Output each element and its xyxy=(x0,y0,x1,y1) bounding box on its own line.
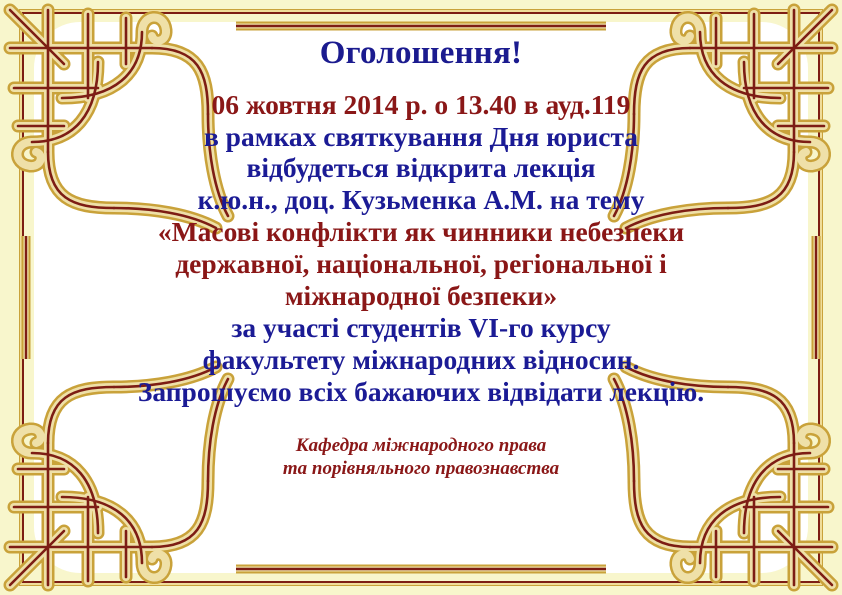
page-title: Оголошення! xyxy=(52,36,790,71)
lecture-title-line-2: державної, національної, регіональної і xyxy=(52,248,790,280)
signature-line-2: та порівняльного правознавства xyxy=(52,457,790,481)
poster-content: Оголошення! 06 жовтня 2014 р. о 13.40 в … xyxy=(52,22,790,481)
announcement-line-event: відбудеться відкрита лекція xyxy=(52,152,790,184)
announcement-line-occasion: в рамках святкування Дня юриста xyxy=(52,121,790,153)
announcement-line-invitation: Запрошуємо всіх бажаючих відвідати лекці… xyxy=(52,376,790,408)
department-signature: Кафедра міжнародного права та порівняльн… xyxy=(52,434,790,482)
announcement-line-faculty: факультету міжнародних відносин. xyxy=(52,344,790,376)
signature-line-1: Кафедра міжнародного права xyxy=(52,434,790,458)
announcement-line-speaker: к.ю.н., доц. Кузьменка А.М. на тему xyxy=(52,184,790,216)
announcement-line-date: 06 жовтня 2014 р. о 13.40 в ауд.119 xyxy=(52,89,790,121)
lecture-title-line-3: міжнародної безпеки» xyxy=(52,280,790,312)
lecture-title-line-1: «Масові конфлікти як чинники небезпеки xyxy=(52,216,790,248)
announcement-poster: Оголошення! 06 жовтня 2014 р. о 13.40 в … xyxy=(0,0,842,595)
announcement-line-participants: за участі студентів VI-го курсу xyxy=(52,312,790,344)
